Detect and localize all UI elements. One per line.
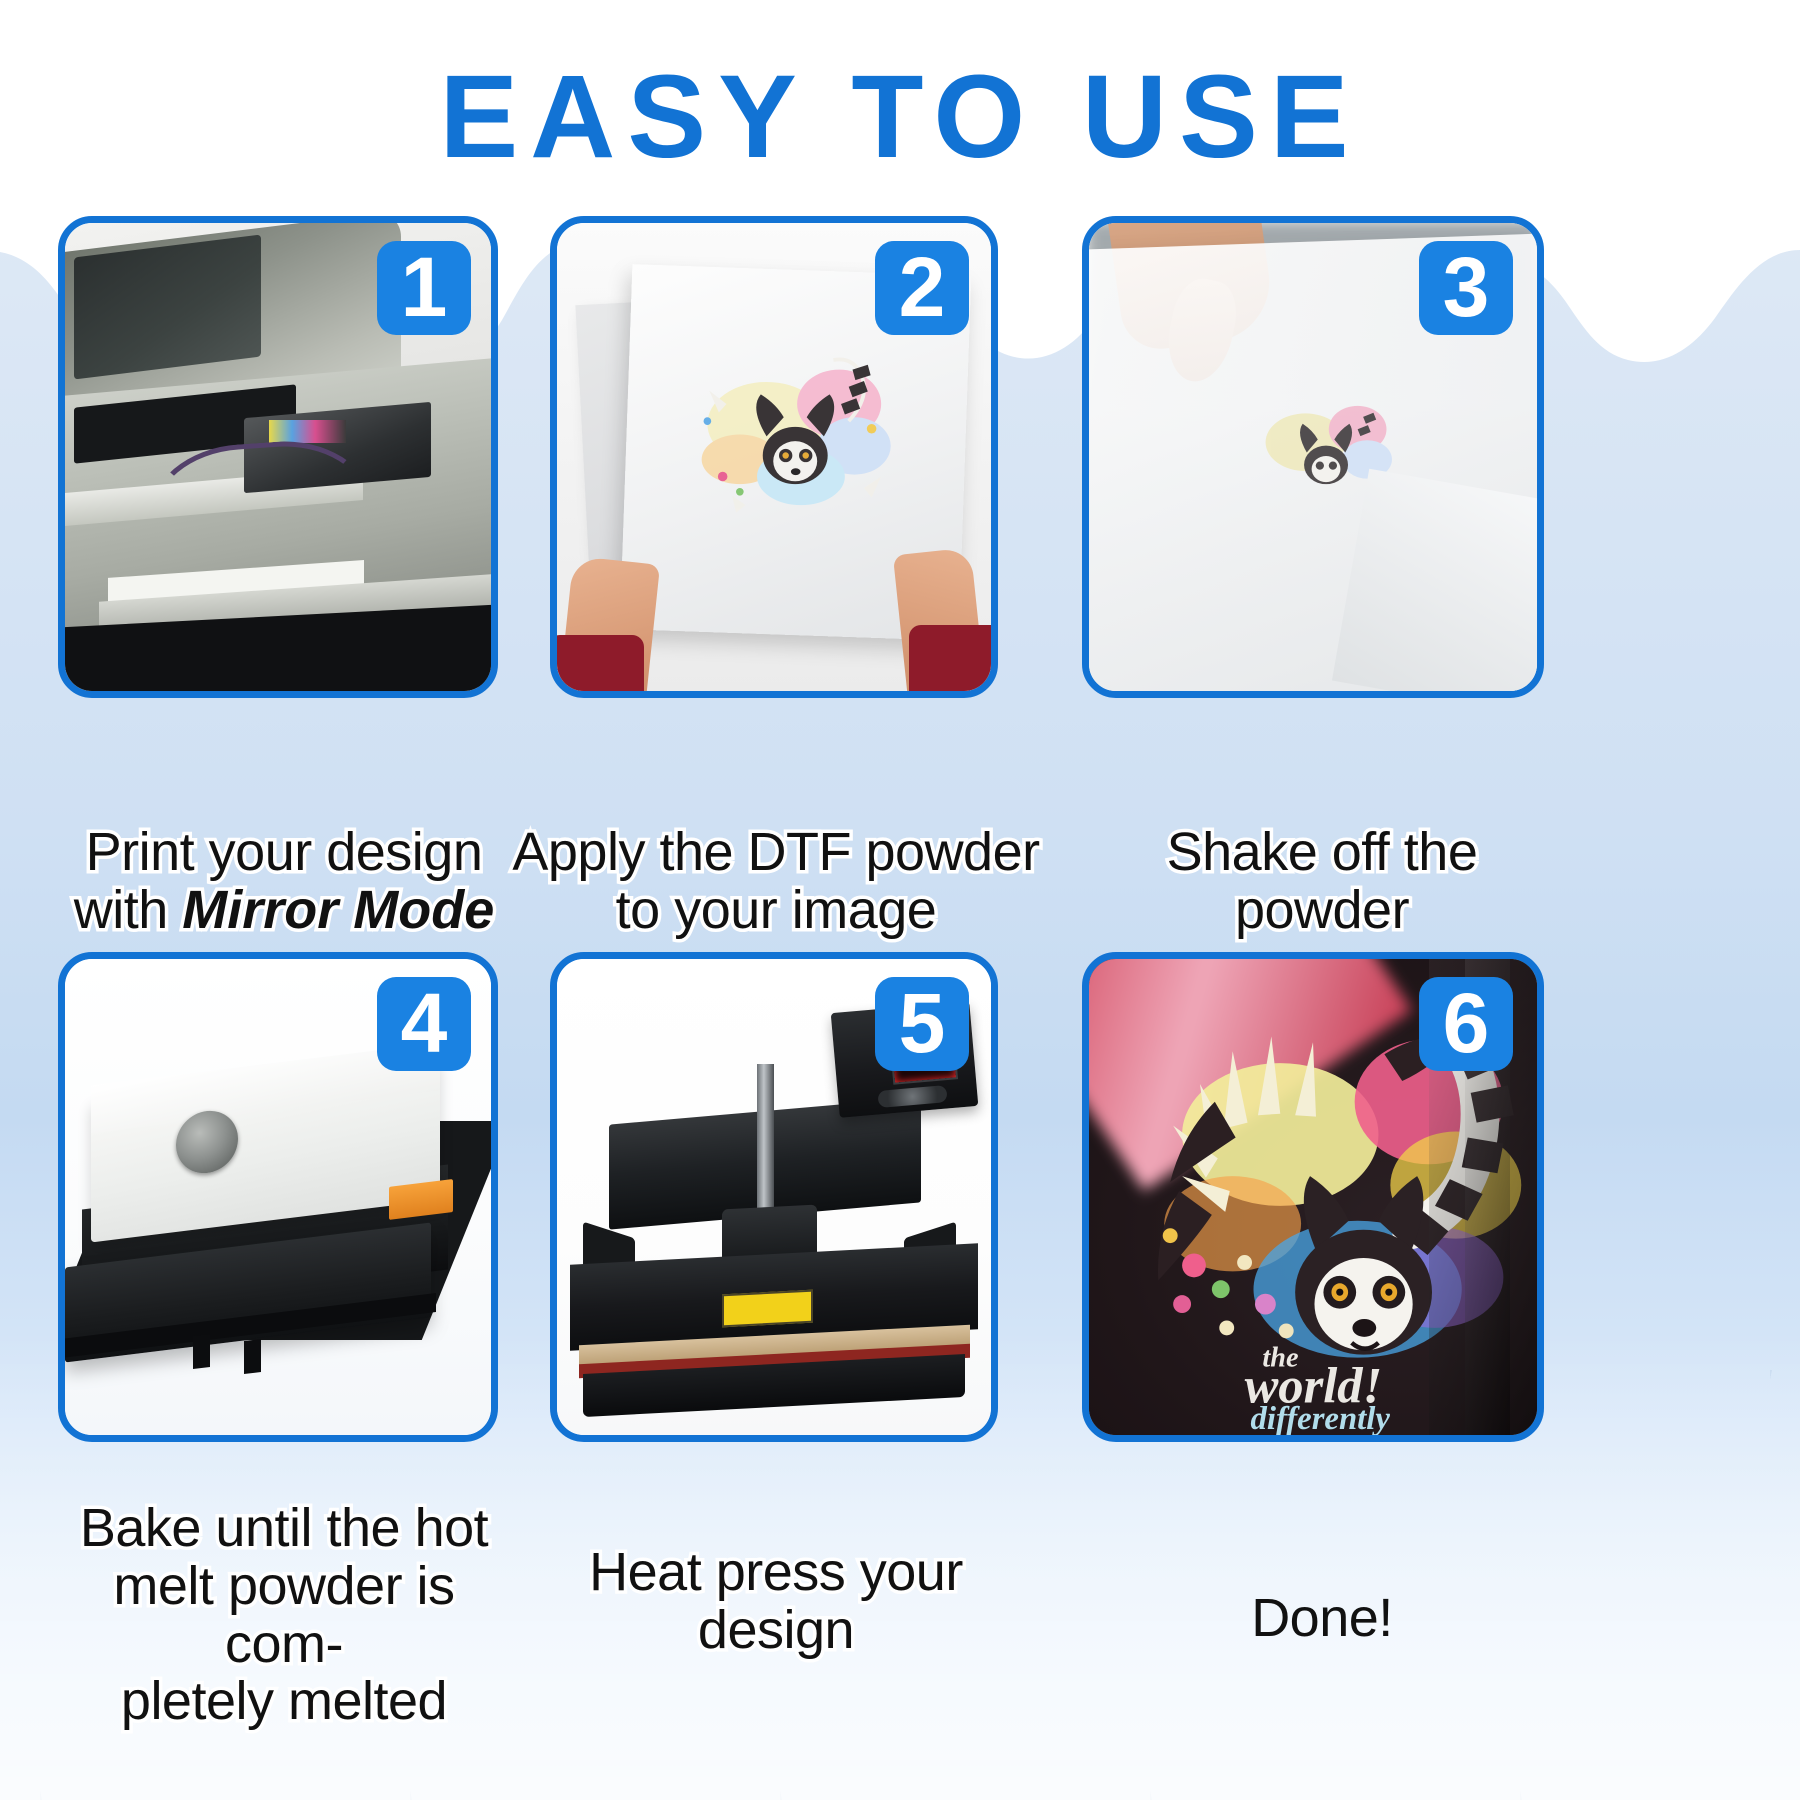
step-5-caption-line-2: design	[698, 1600, 854, 1660]
step-5-number-badge: 5	[875, 977, 969, 1071]
step-4-caption-line-2: melt powder is com-	[113, 1556, 454, 1674]
step-4-caption: Bake until the hot melt powder is com- p…	[58, 1482, 510, 1682]
step-1-caption-emphasis: Mirror Mode	[182, 880, 494, 940]
step-1-image-card[interactable]: 1	[58, 216, 498, 698]
step-4-caption-line-1: Bake until the hot	[80, 1498, 488, 1558]
lemur-design-on-film	[652, 326, 938, 551]
step-2-number-badge: 2	[875, 241, 969, 335]
step-3-caption: Shake off the powder	[1042, 802, 1602, 952]
page-title: EASY TO USE	[0, 58, 1800, 176]
step-3-caption-line-1: Shake off the	[1167, 822, 1478, 882]
step-1: 1	[58, 216, 510, 802]
step-6: the world! differently 6	[1042, 952, 1602, 1482]
step-2-caption-line-1: Apply the DTF powder	[512, 822, 1039, 882]
step-2-caption: Apply the DTF powder to your image	[510, 802, 1042, 952]
step-1-caption-line-2-prefix: with	[74, 880, 183, 940]
step-4-number-badge: 4	[377, 977, 471, 1071]
step-4-caption-line-3: pletely melted	[121, 1671, 447, 1731]
step-5-caption-line-1: Heat press your	[589, 1542, 963, 1602]
steps-grid: 1	[58, 216, 1748, 1682]
step-5: 5	[510, 952, 1042, 1482]
step-5-caption: Heat press your design	[510, 1482, 1042, 1682]
step-1-caption-line-1: Print your design	[86, 822, 483, 882]
step-5-image-card[interactable]: 5	[550, 952, 998, 1442]
step-4: 4	[58, 952, 510, 1482]
step-3: 3	[1042, 216, 1602, 802]
step-2-caption-line-2: to your image	[616, 880, 937, 940]
step-6-image-card[interactable]: the world! differently 6	[1082, 952, 1544, 1442]
step-1-number-badge: 1	[377, 241, 471, 335]
step-1-caption: Print your design with Mirror Mode	[58, 802, 510, 952]
step-3-caption-line-2: powder	[1235, 880, 1409, 940]
step-6-caption: Done!	[1042, 1482, 1602, 1682]
step-3-image-card[interactable]: 3	[1082, 216, 1544, 698]
step-2-image-card[interactable]: 2	[550, 216, 998, 698]
step-4-image-card[interactable]: 4	[58, 952, 498, 1442]
step-6-caption-line-1: Done!	[1251, 1588, 1393, 1648]
step-2: 2	[510, 216, 1042, 802]
step-6-number-badge: 6	[1419, 977, 1513, 1071]
step-3-number-badge: 3	[1419, 241, 1513, 335]
svg-text:differently: differently	[1251, 1401, 1391, 1435]
